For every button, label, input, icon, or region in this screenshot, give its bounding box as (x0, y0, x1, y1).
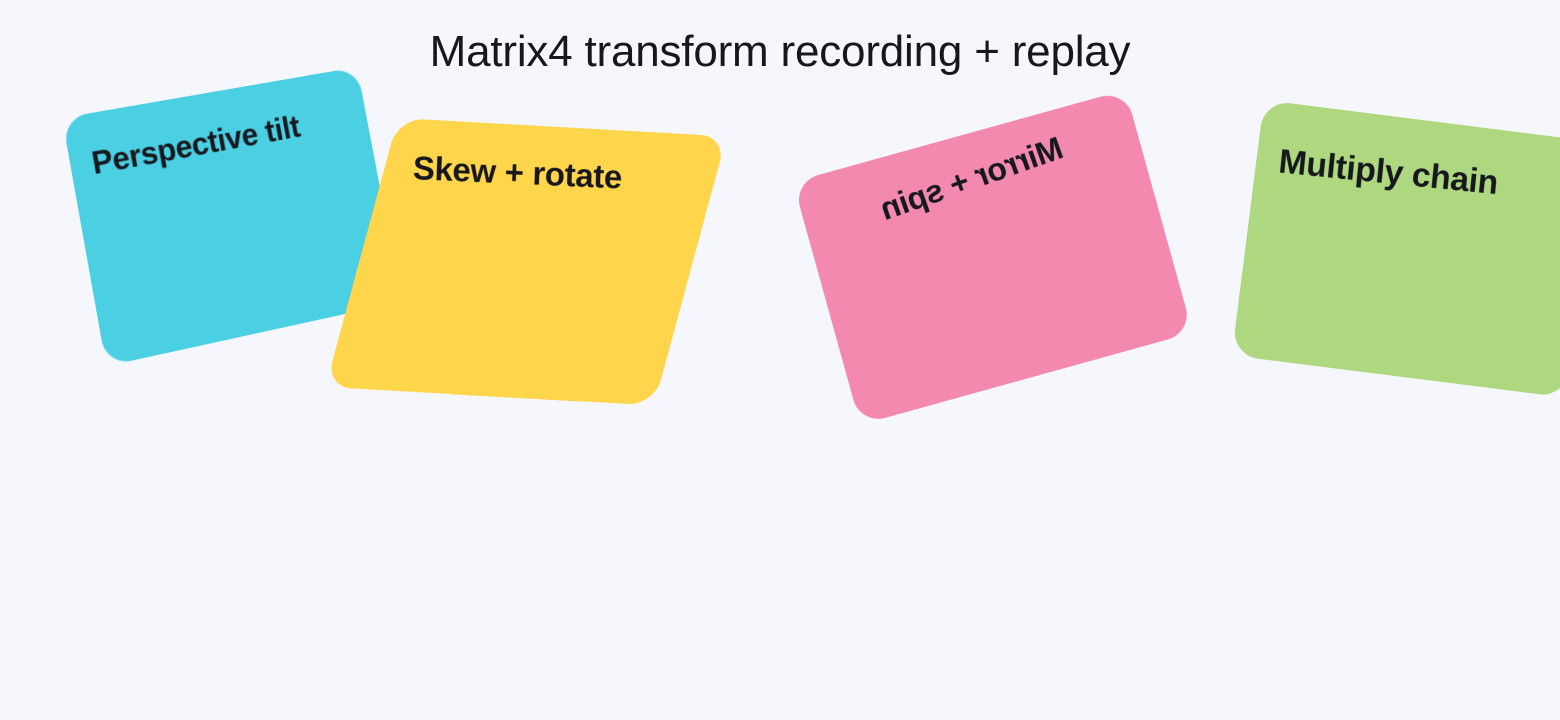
card-skew-rotate[interactable]: Skew + rotate (325, 118, 726, 405)
card-label-skew-rotate: Skew + rotate (412, 151, 622, 194)
transform-stage: Matrix4 transform recording + replay Per… (0, 0, 1560, 720)
card-deck: Perspective tilt Skew + rotate Mirror + … (0, 0, 1560, 720)
card-label-multiply-chain: Multiply chain (1277, 144, 1499, 200)
card-label-perspective-tilt: Perspective tilt (89, 111, 302, 180)
card-multiply-chain[interactable]: Multiply chain (1232, 100, 1560, 398)
card-label-mirror-spin: Mirror + spin (839, 118, 1104, 238)
card-mirror-spin[interactable]: Mirror + spin (793, 90, 1193, 425)
